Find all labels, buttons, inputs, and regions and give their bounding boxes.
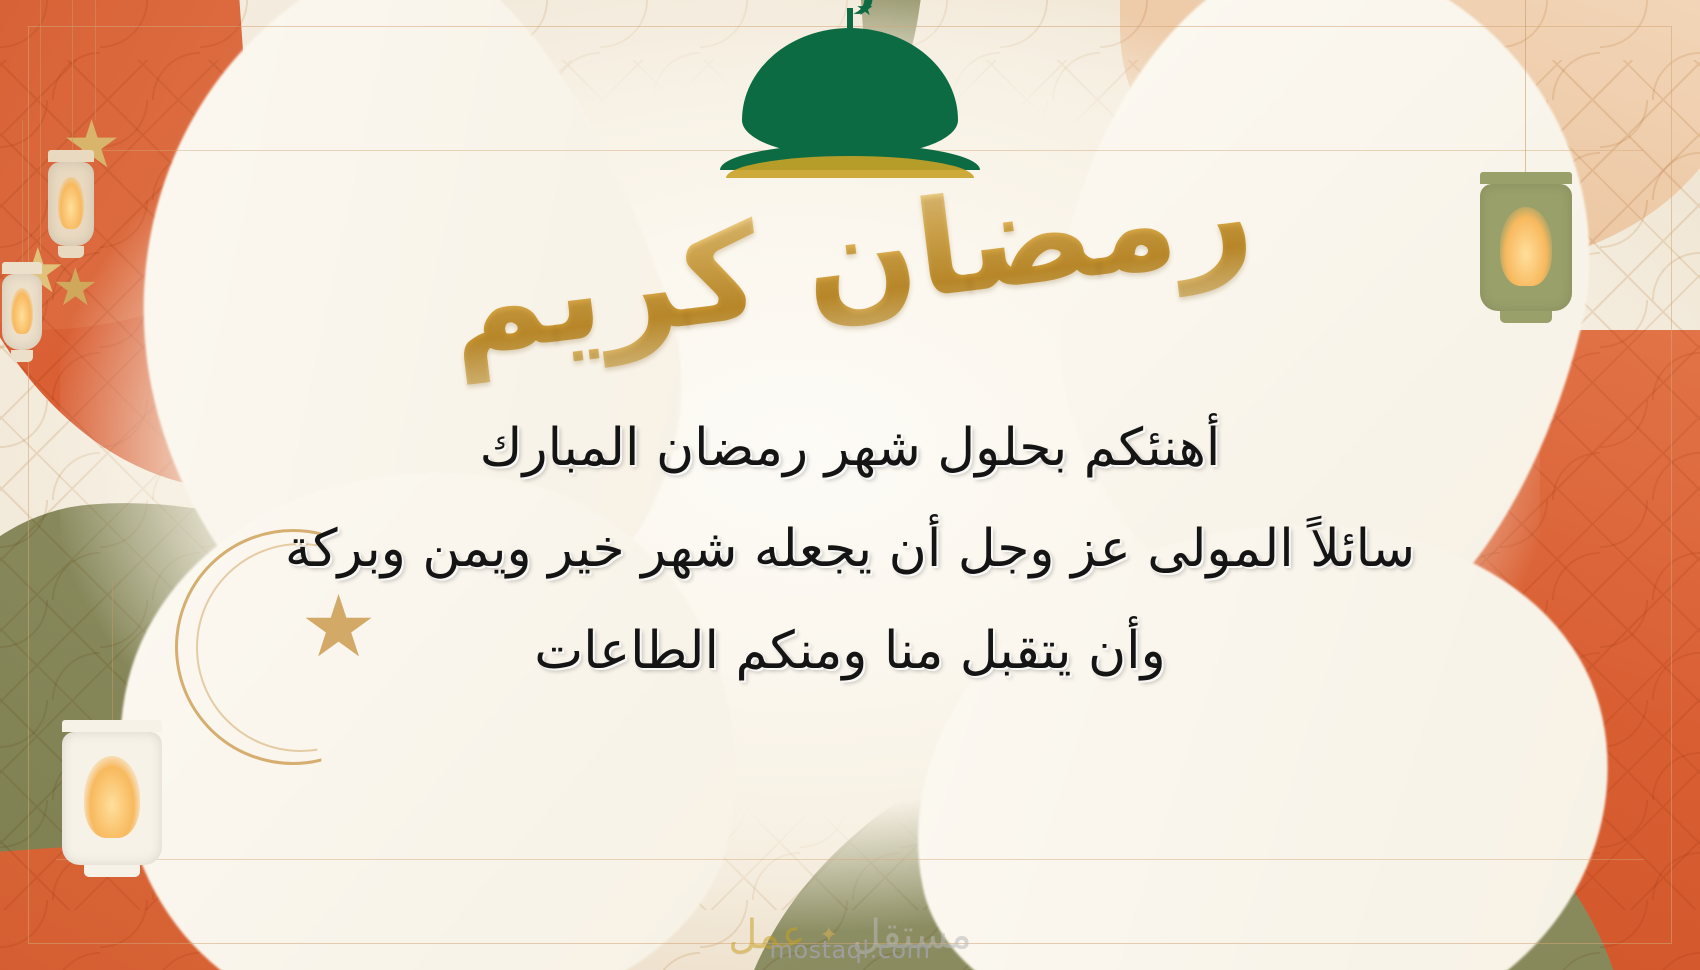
hang-string-3 [72,0,73,160]
lantern-top-left [48,150,94,270]
hang-string-1 [95,0,96,120]
greeting-line-2: سائلاً المولى عز وجل أن يجعله شهر خير وي… [150,499,1550,600]
hang-string-4 [22,120,23,270]
lantern-foot [84,865,140,877]
lantern-glow [58,177,84,229]
greeting-text-block: أهنئكم بحلول شهر رمضان المبارك سائلاً ال… [150,398,1550,702]
hang-string-5 [112,580,113,730]
lantern-foot [1500,311,1552,323]
mosque-dome-icon [720,0,980,180]
greeting-line-1: أهنئكم بحلول شهر رمضان المبارك [150,398,1550,499]
lantern-cap [48,150,94,162]
lantern-cap [2,262,42,274]
greeting-line-3: وأن يتقبل منا ومنكم الطاعات [150,601,1550,702]
lantern-glow [84,756,140,838]
lantern-body [62,732,162,865]
dome-body [742,28,958,156]
lantern-cap [62,720,162,732]
lantern-body [48,162,94,246]
lantern-bottom-left [62,720,162,910]
watermark-url: mostaql.com [0,936,1700,964]
ramadan-greeting-card: رمضان كريم أهنئكم بحلول شهر رمضان المبار… [0,0,1700,970]
lantern-foot [58,246,84,258]
hang-string-2 [40,0,41,250]
